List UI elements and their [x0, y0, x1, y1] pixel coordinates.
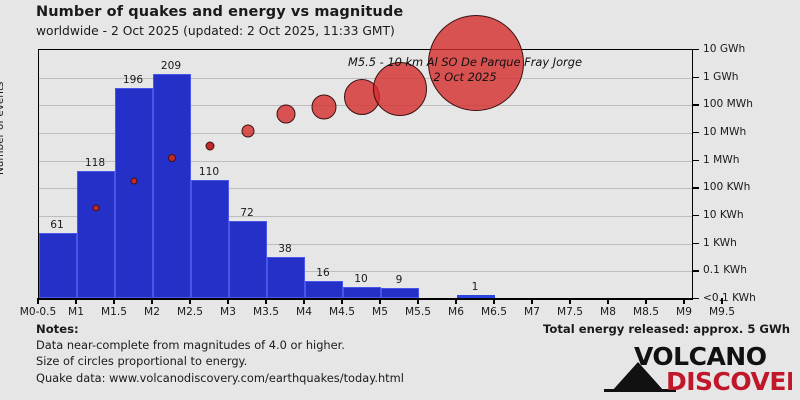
x-axis-tick — [113, 298, 115, 304]
x-axis-label: M7.5 — [557, 306, 583, 318]
x-axis-tick — [455, 298, 457, 304]
energy-circle — [373, 62, 427, 116]
volcanodiscovery-logo[interactable]: VOLCANO DISCOVERY — [604, 340, 792, 394]
x-axis-label: M5.5 — [405, 306, 431, 318]
y-axis-tick — [693, 49, 699, 50]
bar-value-label: 196 — [123, 74, 143, 86]
annotation-line-1: M5.5 - 10 km Al SO De Parque Fray Jorge — [348, 55, 582, 69]
x-axis-tick — [379, 298, 381, 304]
x-axis-tick — [683, 298, 685, 304]
plot-area — [38, 49, 693, 298]
x-axis-label: M8 — [600, 306, 616, 318]
energy-circle — [93, 205, 100, 212]
x-axis-tick — [75, 298, 77, 304]
x-axis-label: M9.5 — [709, 306, 735, 318]
y-axis-tick — [693, 77, 699, 78]
x-axis-tick — [151, 298, 153, 304]
x-axis-tick — [341, 298, 343, 304]
bar-value-label: 1 — [472, 281, 479, 293]
x-axis-tick — [37, 298, 39, 304]
total-energy-label: Total energy released: approx. 5 GWh — [543, 322, 790, 336]
logo-text-discovery: DISCOVERY — [666, 367, 792, 394]
x-axis-label: M5 — [372, 306, 388, 318]
x-axis-label: M4.5 — [329, 306, 355, 318]
x-axis-label: M7 — [524, 306, 540, 318]
bar-value-label: 110 — [199, 166, 219, 178]
bar-value-label: 9 — [396, 274, 403, 286]
notes-heading: Notes: — [36, 322, 79, 336]
x-axis-tick — [493, 298, 495, 304]
x-axis-label: M0-0.5 — [20, 306, 57, 318]
page-title: Number of quakes and energy vs magnitude — [36, 4, 403, 20]
y-axis-right-label: 1 GWh — [703, 71, 739, 83]
bar-value-label: 38 — [278, 243, 291, 255]
x-axis-tick — [417, 298, 419, 304]
x-axis-label: M1.5 — [101, 306, 127, 318]
y-axis-right-label: 0.1 KWh — [703, 264, 747, 276]
y-axis-right-label: 10 KWh — [703, 209, 744, 221]
x-axis-tick — [569, 298, 571, 304]
x-axis-label: M3 — [220, 306, 236, 318]
energy-circle — [206, 142, 215, 151]
x-axis-tick — [303, 298, 305, 304]
notes-line-1: Data near-complete from magnitudes of 4.… — [36, 338, 345, 352]
x-axis-label: M4 — [296, 306, 312, 318]
y-axis-tick — [693, 160, 699, 161]
energy-circle — [168, 154, 176, 162]
x-axis-label: M8.5 — [633, 306, 659, 318]
energy-circle — [277, 105, 296, 124]
y-axis-right-label: 100 KWh — [703, 181, 750, 193]
x-axis-tick — [645, 298, 647, 304]
x-axis-label: M2.5 — [177, 306, 203, 318]
x-axis-tick — [531, 298, 533, 304]
y-axis-right-label: 1 KWh — [703, 237, 737, 249]
x-axis-label: M1 — [68, 306, 84, 318]
chart-subtitle: worldwide - 2 Oct 2025 (updated: 2 Oct 2… — [36, 24, 395, 38]
y-axis-right-label: 100 MWh — [703, 98, 753, 110]
bar-value-label: 72 — [240, 207, 253, 219]
bar-value-label: 10 — [354, 273, 367, 285]
y-axis-tick — [693, 104, 699, 105]
x-axis-label: M6.5 — [481, 306, 507, 318]
chart-page: Number of quakes and energy vs magnitude… — [0, 0, 800, 400]
y-axis-tick — [693, 187, 699, 188]
notes-line-2: Size of circles proportional to energy. — [36, 354, 247, 368]
bar-value-label: 16 — [316, 267, 329, 279]
notes-line-3[interactable]: Quake data: www.volcanodiscovery.com/ear… — [36, 371, 404, 385]
bar-value-label: 118 — [85, 157, 105, 169]
y-axis-tick — [693, 132, 699, 133]
energy-circles-layer — [39, 50, 692, 298]
x-axis-tick — [265, 298, 267, 304]
x-axis-tick — [189, 298, 191, 304]
y-axis-label-left: Number of events — [0, 82, 6, 175]
annotation-line-2: 2 Oct 2025 — [433, 70, 496, 84]
y-axis-tick — [693, 243, 699, 244]
energy-circle — [242, 125, 255, 138]
x-axis-tick — [227, 298, 229, 304]
x-axis-tick — [607, 298, 609, 304]
y-axis-right-label: 1 MWh — [703, 154, 739, 166]
energy-circle — [312, 95, 337, 120]
y-axis-tick — [693, 298, 699, 299]
x-axis-label: M3.5 — [253, 306, 279, 318]
bar-value-label: 61 — [50, 219, 63, 231]
y-axis-tick — [693, 270, 699, 271]
x-axis-label: M6 — [448, 306, 464, 318]
y-axis-right-label: 10 GWh — [703, 43, 745, 55]
energy-circle — [131, 178, 138, 185]
x-axis-label: M2 — [144, 306, 160, 318]
y-axis-right-label: 10 MWh — [703, 126, 746, 138]
bar-value-label: 209 — [161, 60, 181, 72]
y-axis-tick — [693, 215, 699, 216]
x-axis-line — [38, 298, 693, 300]
x-axis-label: M9 — [676, 306, 692, 318]
y-axis-right-label: <0.1 KWh — [703, 292, 756, 304]
